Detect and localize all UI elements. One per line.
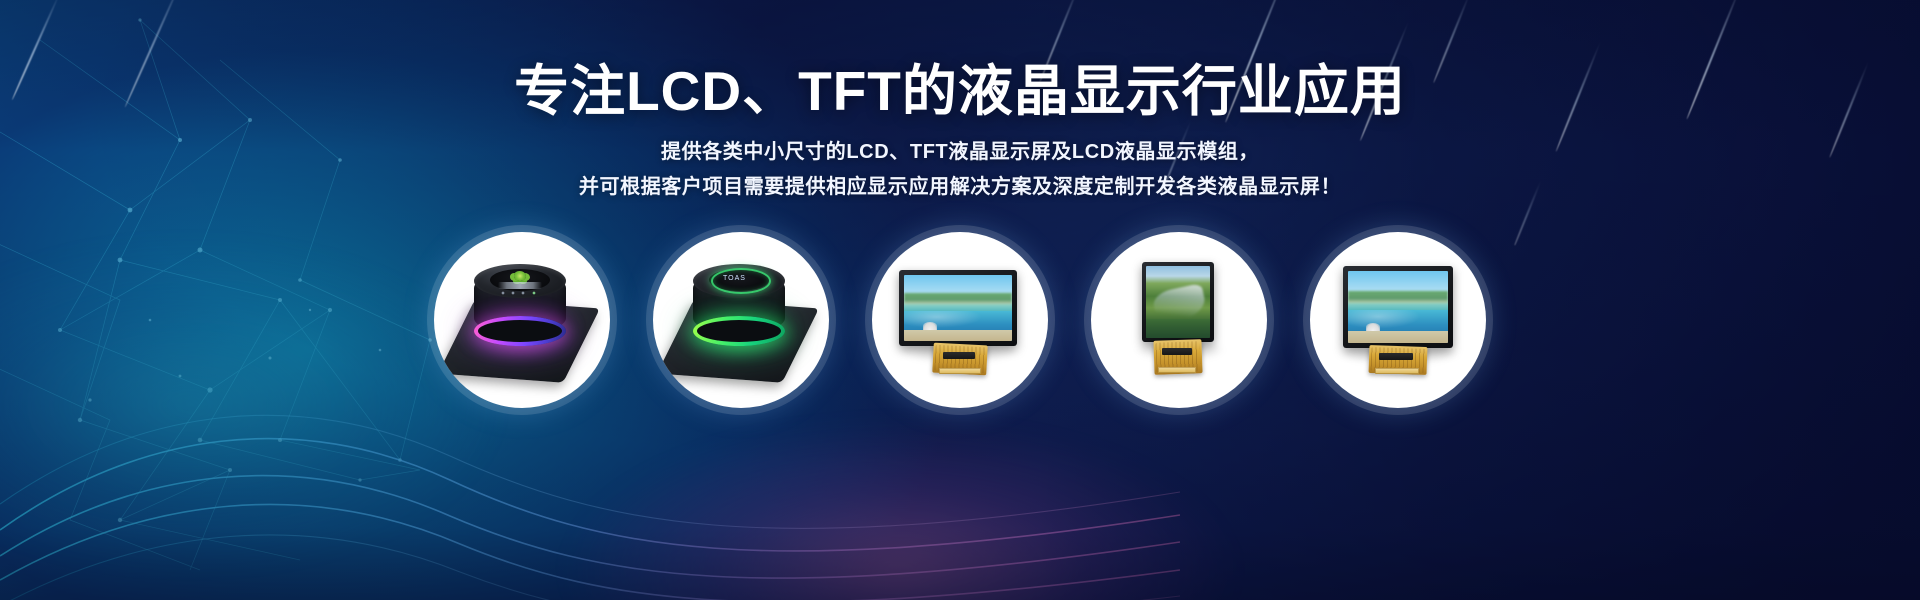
device-status-dots-icon (500, 291, 540, 295)
product-image-tft-wide (1310, 232, 1486, 408)
screen-content-beach-scene (1348, 271, 1448, 343)
device-brand-label: TOAS (723, 275, 746, 282)
subtitle-line-1: 提供各类中小尺寸的LCD、TFT液晶显示屏及LCD液晶显示模组， (661, 141, 1259, 163)
screen-sand-band (1348, 331, 1448, 343)
product-circle-3[interactable] (872, 232, 1048, 408)
rgb-light-ring-icon (474, 316, 566, 346)
flower-logo-icon (514, 271, 526, 281)
hero-banner: 专注LCD、TFT的液晶显示行业应用 提供各类中小尺寸的LCD、TFT液晶显示屏… (0, 0, 1920, 600)
product-circle-4[interactable] (1091, 232, 1267, 408)
product-circle-2[interactable]: TOAS (653, 232, 829, 408)
screen-sand-band (904, 330, 1012, 341)
screen-umbrella-icon (923, 322, 937, 330)
banner-subtitle: 提供各类中小尺寸的LCD、TFT液晶显示屏及LCD液晶显示模组， 并可根据客户项… (0, 135, 1920, 205)
display-screen (1146, 266, 1210, 338)
product-image-tft-portrait (1091, 232, 1267, 408)
product-image-tft-landscape (872, 232, 1048, 408)
product-image-smart-puck-green: TOAS (653, 232, 829, 408)
display-screen (904, 275, 1012, 341)
fpc-connector (1158, 367, 1196, 373)
screen-umbrella-icon (1366, 323, 1380, 331)
banner-copy: 专注LCD、TFT的液晶显示行业应用 提供各类中小尺寸的LCD、TFT液晶显示屏… (0, 62, 1920, 205)
fpc-connector (1375, 368, 1419, 374)
product-circle-1[interactable] (434, 232, 610, 408)
display-screen (1348, 271, 1448, 343)
product-circle-5[interactable] (1310, 232, 1486, 408)
product-showcase-list: TOAS (0, 232, 1920, 408)
driver-ic-chip (1379, 353, 1413, 360)
screen-content-beach-scene (904, 275, 1012, 341)
fpc-connector (939, 368, 981, 374)
rgb-light-ring-icon (693, 316, 785, 346)
page-title: 专注LCD、TFT的液晶显示行业应用 (0, 62, 1920, 121)
screen-content-valley-scene (1146, 266, 1210, 338)
subtitle-line-2: 并可根据客户项目需要提供相应显示应用解决方案及深度定制开发各类液晶显示屏！ (579, 176, 1341, 198)
driver-ic-chip (943, 352, 975, 359)
driver-ic-chip (1162, 348, 1192, 355)
product-image-smart-puck-violet (434, 232, 610, 408)
device-screen-label (498, 282, 542, 289)
